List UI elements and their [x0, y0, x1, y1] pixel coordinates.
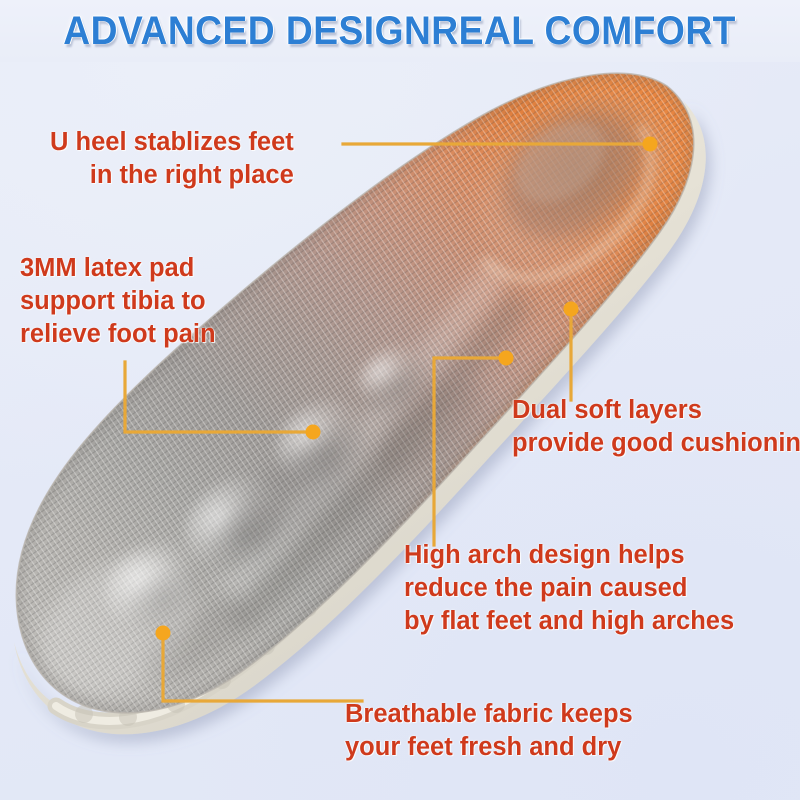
high-arch-callout: High arch design helps reduce the pain c… — [404, 539, 734, 638]
callout-line: provide good cushioning — [512, 427, 800, 460]
leader-breathable — [163, 635, 362, 701]
dot-breathable — [156, 626, 171, 641]
callout-line: your feet fresh and dry — [345, 731, 633, 764]
page-title: ADVANCED DESIGNREAL COMFORT — [64, 9, 737, 54]
title-banner: ADVANCED DESIGNREAL COMFORT — [0, 0, 800, 62]
callout-line: Breathable fabric keeps — [345, 698, 633, 731]
dot-u-heel — [643, 137, 658, 152]
dot-high-arch — [499, 351, 514, 366]
dot-latex-pad — [306, 425, 321, 440]
callout-line: High arch design helps — [404, 539, 734, 572]
callout-line: U heel stablizes feet — [50, 126, 294, 159]
latex-pad-callout: 3MM latex pad support tibia to relieve f… — [20, 252, 216, 351]
callout-line: relieve foot pain — [20, 318, 216, 351]
callout-line: reduce the pain caused — [404, 572, 734, 605]
leader-high-arch — [434, 358, 504, 545]
callout-line: support tibia to — [20, 285, 216, 318]
leader-latex-pad — [125, 362, 311, 432]
dot-dual-layers — [564, 302, 579, 317]
infographic-canvas: ADVANCED DESIGNREAL COMFORT U heel stabl… — [0, 0, 800, 800]
callout-line: in the right place — [50, 159, 294, 192]
callout-line: Dual soft layers — [512, 394, 800, 427]
u-heel-callout: U heel stablizes feet in the right place — [50, 126, 294, 192]
dual-soft-layers-callout: Dual soft layers provide good cushioning — [512, 394, 800, 460]
callout-line: by flat feet and high arches — [404, 605, 734, 638]
breathable-fabric-callout: Breathable fabric keeps your feet fresh … — [345, 698, 633, 764]
callout-line: 3MM latex pad — [20, 252, 216, 285]
